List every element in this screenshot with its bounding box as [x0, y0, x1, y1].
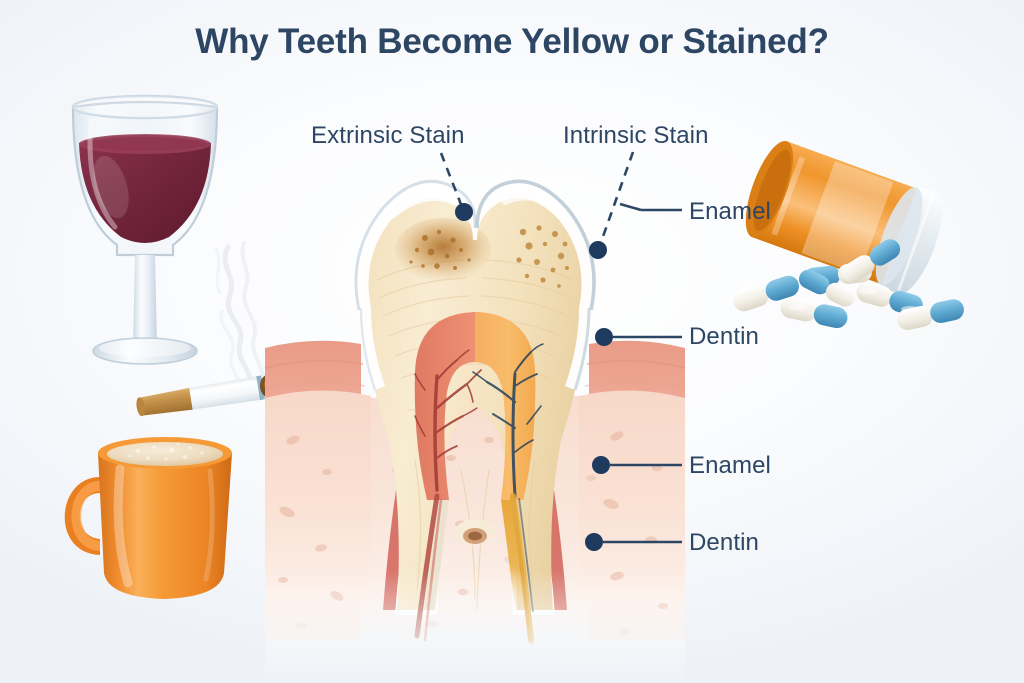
- label-enamel-upper: Enamel: [689, 198, 771, 226]
- marker-extrinsic-stain: [455, 203, 473, 221]
- label-enamel-lower: Enamel: [689, 452, 771, 480]
- infographic-canvas: Why Teeth Become Yellow or Stained?: [0, 0, 1024, 683]
- marker-dentin-upper: [595, 328, 613, 346]
- marker-enamel-lower: [592, 456, 610, 474]
- leader-intrinsic-stain: [600, 152, 633, 245]
- marker-intrinsic-stain: [589, 241, 607, 259]
- label-dentin-upper: Dentin: [689, 323, 759, 351]
- leader-extrinsic-stain: [441, 153, 462, 207]
- label-intrinsic-stain: Intrinsic Stain: [563, 122, 709, 150]
- label-dentin-lower: Dentin: [689, 529, 759, 557]
- label-extrinsic-stain: Extrinsic Stain: [311, 122, 465, 150]
- marker-dentin-lower: [585, 533, 603, 551]
- callout-leader-lines: [0, 0, 1024, 683]
